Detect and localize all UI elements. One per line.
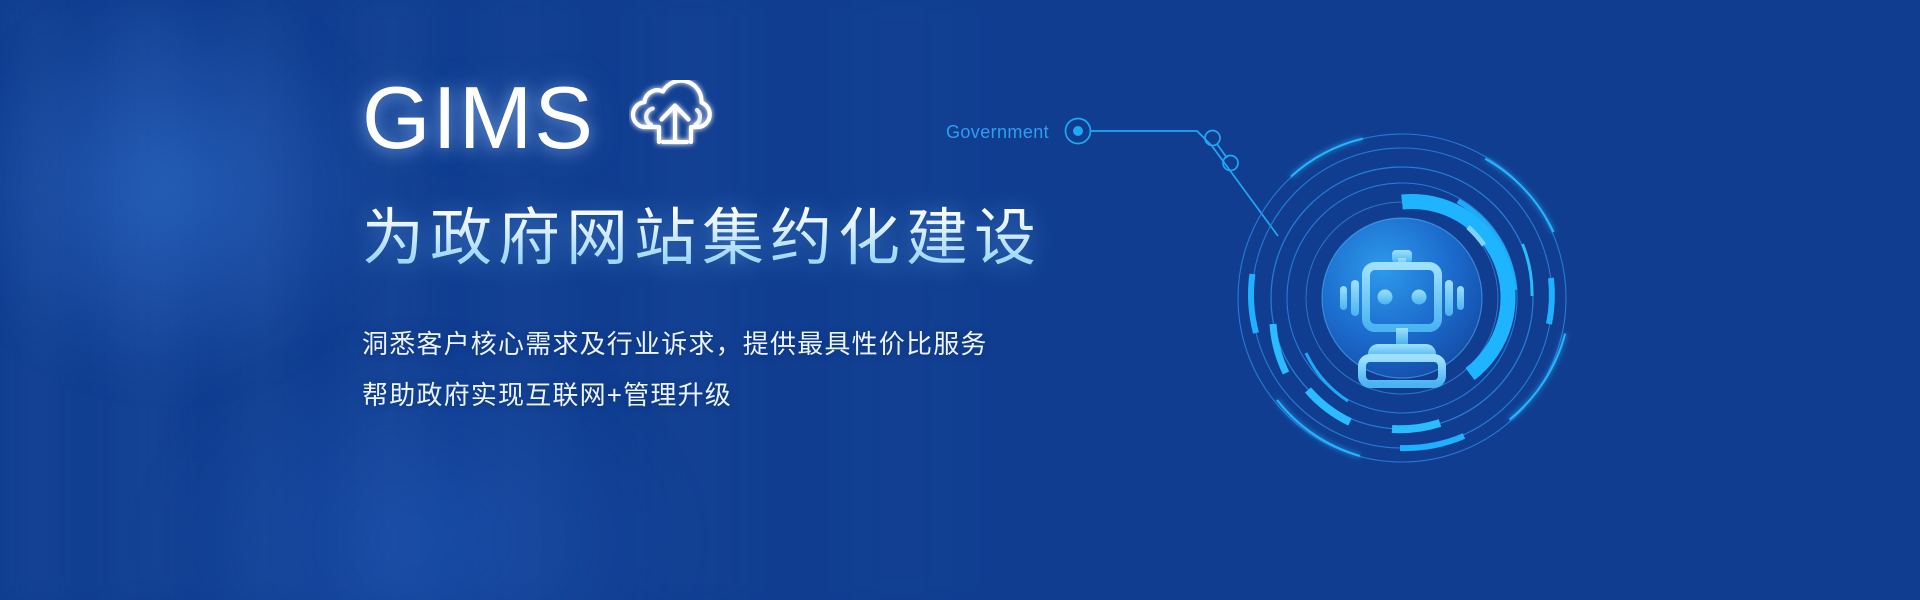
banner-headline: 为政府网站集约化建设 bbox=[362, 206, 1262, 273]
banner-subtext: 洞悉客户核心需求及行业诉求，提供最具性价比服务 帮助政府实现互联网+管理升级 bbox=[362, 319, 1262, 420]
hero-banner: GIMS bbox=[0, 0, 1920, 600]
tech-ring-graphic bbox=[1232, 128, 1572, 468]
subtext-line-1: 洞悉客户核心需求及行业诉求，提供最具性价比服务 bbox=[362, 319, 1262, 370]
brand-title: GIMS bbox=[362, 74, 595, 162]
brand-row: GIMS bbox=[362, 66, 1262, 170]
cloud-upload-icon bbox=[629, 80, 721, 157]
subtext-line-2: 帮助政府实现互联网+管理升级 bbox=[362, 370, 1262, 421]
banner-content: GIMS bbox=[362, 66, 1262, 420]
